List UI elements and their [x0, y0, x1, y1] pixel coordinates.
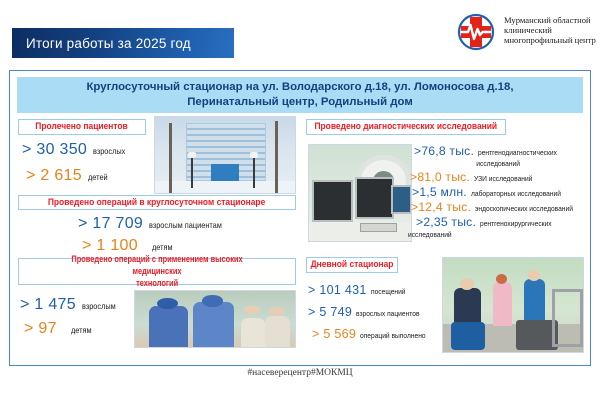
operations-hightech-adults-value: > 1 475	[20, 296, 76, 314]
treated-adults-value: > 30 350	[22, 141, 87, 159]
operations-inpatient-children-stat: > 1 100 детям	[82, 237, 175, 255]
hospital-building-photo	[154, 116, 296, 194]
diagnostics-xraysurgery-label-cont: исследований	[408, 230, 566, 239]
page-title: Итоги работы за 2025 год	[26, 36, 191, 51]
treated-adults-label: взрослых	[93, 147, 125, 156]
day-hospital-adults-label: взрослых пациентов	[356, 309, 419, 318]
block-day-hospital: Дневной стационар > 101 431 посещений > …	[304, 257, 585, 357]
operations-inpatient-adults-stat: > 17 709 взрослым пациентам	[78, 215, 230, 233]
diagnostics-item-xray: >76,8 тыс. рентгенодиагностических	[414, 144, 584, 158]
treated-patients-caption: Пролечено пациентов	[18, 119, 146, 135]
day-hospital-adults-value: > 5 749	[308, 305, 352, 319]
logo-line-3: многопрофильный центр	[504, 35, 596, 45]
diagnostics-lab-label: лабораторных исследований	[471, 189, 561, 198]
block-operations-inpatient: Проведено операций в круглосуточном стац…	[16, 195, 301, 258]
treated-children-value: > 2 615	[26, 167, 82, 185]
operations-hightech-caption-line-2: технологий	[136, 278, 178, 290]
diagnostics-xray-label: рентгенодиагностических	[478, 148, 557, 157]
diagnostics-item-endoscopy: >12,4 тыс. эндоскопических исследований	[411, 200, 584, 214]
day-hospital-visits-label: посещений	[371, 287, 406, 296]
diagnostics-lab-value: >1,5 млн.	[412, 185, 467, 199]
diagnostics-endoscopy-label: эндоскопических исследований	[475, 204, 573, 213]
day-hospital-operations-value: > 5 569	[312, 327, 356, 341]
content-frame: Круглосуточный стационар на ул. Володарс…	[9, 70, 591, 366]
logo-line-1: Мурманский областной	[504, 15, 596, 25]
block-diagnostics: Проведено диагностических исследований >…	[304, 119, 585, 257]
diagnostics-item-lab: >1,5 млн. лабораторных исследований	[412, 185, 584, 199]
day-hospital-visits-stat: > 101 431 посещений	[308, 283, 409, 297]
operations-hightech-caption: Проведено операций с применением высоких…	[18, 258, 296, 285]
block-operations-hightech: Проведено операций с применением высоких…	[16, 258, 301, 348]
operations-hightech-children-stat: > 97 детям	[24, 320, 94, 338]
section-header-line-1: Круглосуточный стационар на ул. Володарс…	[86, 80, 513, 95]
operations-inpatient-adults-label: взрослым пациентам	[149, 221, 222, 230]
block-treated-patients: Пролечено пациентов > 30 350 взрослых > …	[16, 119, 301, 191]
diagnostics-item-ultrasound: >81,0 тыс. УЗИ исследований	[410, 170, 584, 184]
treated-children-label: детей	[88, 173, 108, 182]
rehabilitation-gym-photo	[442, 257, 584, 353]
diagnostics-endoscopy-value: >12,4 тыс.	[411, 200, 471, 214]
diagnostics-xraysurgery-value: >2,35 тыс.	[416, 215, 476, 229]
day-hospital-visits-value: > 101 431	[308, 283, 367, 297]
operating-room-photo	[134, 290, 296, 348]
operations-inpatient-children-value: > 1 100	[82, 237, 138, 255]
diagnostics-item-xraysurgery: >2,35 тыс. рентгенохирургических	[416, 215, 584, 229]
operations-hightech-adults-stat: > 1 475 взрослым	[20, 296, 119, 314]
day-hospital-operations-label: операций выполнено	[360, 331, 426, 340]
footer-hashtags: #насеверецентр#МОКМЦ	[0, 368, 600, 378]
operations-hightech-children-value: > 97	[24, 320, 57, 338]
operations-hightech-children-label: детям	[71, 326, 92, 335]
logo-text: Мурманский областной клинический многопр…	[504, 11, 596, 45]
logo-line-2: клинический	[504, 25, 596, 35]
operations-hightech-caption-line-1: Проведено операций с применением высоких…	[53, 254, 261, 278]
medical-cross-heartbeat-icon	[455, 11, 497, 53]
left-column: Пролечено пациентов > 30 350 взрослых > …	[16, 119, 301, 348]
operations-hightech-adults-label: взрослым	[82, 302, 116, 311]
day-hospital-operations-stat: > 5 569 операций выполнено	[312, 327, 433, 341]
treated-children-stat: > 2 615 детей	[26, 167, 110, 185]
day-hospital-adults-stat: > 5 749 взрослых пациентов	[308, 305, 427, 319]
header-strip: Итоги работы за 2025 год Мурманский обла…	[0, 0, 600, 66]
operations-inpatient-children-label: детям	[152, 243, 173, 252]
diagnostics-xraysurgery-label: рентгенохирургических	[480, 219, 552, 228]
diagnostics-xray-label-cont: исследований	[428, 159, 568, 168]
treated-adults-stat: > 30 350 взрослых	[22, 141, 129, 159]
operations-inpatient-caption: Проведено операций в круглосуточном стац…	[18, 195, 296, 210]
right-column: Проведено диагностических исследований >…	[304, 119, 585, 357]
section-header-line-2: Перинатальный центр, Родильный дом	[187, 95, 413, 110]
diagnostics-ultrasound-label: УЗИ исследований	[474, 174, 532, 183]
diagnostics-xray-value: >76,8 тыс.	[414, 144, 474, 158]
operations-inpatient-adults-value: > 17 709	[78, 215, 143, 233]
section-header: Круглосуточный стационар на ул. Володарс…	[17, 77, 583, 113]
organization-logo: Мурманский областной клинический многопр…	[455, 11, 595, 59]
ct-scanner-photo	[308, 144, 412, 242]
day-hospital-caption: Дневной стационар	[306, 257, 398, 273]
title-banner: Итоги работы за 2025 год	[12, 28, 234, 58]
diagnostics-ultrasound-value: >81,0 тыс.	[410, 170, 470, 184]
diagnostics-list: >76,8 тыс. рентгенодиагностических иссле…	[414, 144, 584, 239]
diagnostics-caption: Проведено диагностических исследований	[306, 119, 506, 135]
